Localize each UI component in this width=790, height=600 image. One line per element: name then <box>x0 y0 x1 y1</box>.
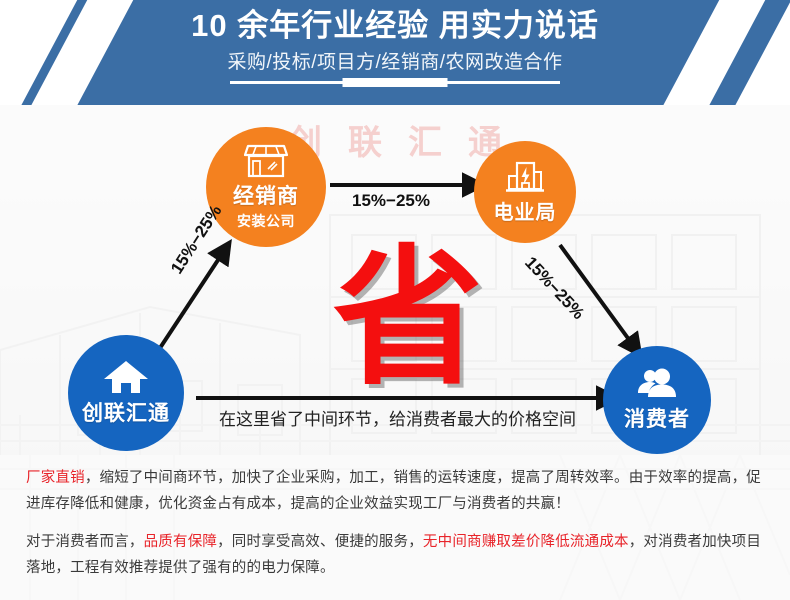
supply-chain-diagram: 创联汇通 省 <box>0 105 790 455</box>
highlight-text: 品质有保障 <box>144 534 218 550</box>
diagram-node-power-bureau[interactable]: 电业局 <box>474 141 576 243</box>
node-label: 经销商 <box>233 180 299 210</box>
highlight-text: 厂家直销 <box>26 470 85 486</box>
users-icon <box>635 367 679 401</box>
connector-label-company-to-consumer: 在这里省了中间环节，给消费者最大的价格空间 <box>200 405 595 430</box>
diagram-node-consumer[interactable]: 消费者 <box>603 346 711 454</box>
connector-label-dealer-to-bureau: 15%−25% <box>352 191 430 211</box>
node-sublabel: 安装公司 <box>237 211 295 231</box>
highlight-text: 无中间商赚取差价降低流通成本 <box>423 534 629 550</box>
paragraph-text: ，同时享受高效、便捷的服务， <box>217 534 423 550</box>
node-label: 创联汇通 <box>82 397 170 427</box>
storefront-icon <box>244 144 288 178</box>
page-title: 10 余年行业经验 用实力说话 <box>191 8 599 44</box>
description-paragraph-1: 厂家直销，缩短了中间商环节，加快了企业采购，加工，销售的运转速度，提高了周转效率… <box>26 465 764 517</box>
diagram-node-company[interactable]: 创联汇通 <box>68 335 184 451</box>
page-header: 10 余年行业经验 用实力说话 采购/投标/项目方/经销商/农网改造合作 <box>0 0 790 105</box>
power-building-icon <box>504 160 546 194</box>
node-label: 消费者 <box>624 403 690 433</box>
diagram-node-dealer[interactable]: 经销商 安装公司 <box>206 127 326 247</box>
save-emphasis-glyph: 省 <box>333 243 483 393</box>
page-subtitle: 采购/投标/项目方/经销商/农网改造合作 <box>227 47 562 74</box>
header-divider <box>230 81 560 84</box>
description-paragraph-2: 对于消费者而言，品质有保障，同时享受高效、便捷的服务，无中间商赚取差价降低流通成… <box>26 529 764 581</box>
node-label: 电业局 <box>494 196 557 225</box>
home-icon <box>103 359 149 395</box>
header-divider-center <box>343 78 448 87</box>
description-section: 厂家直销，缩短了中间商环节，加快了企业采购，加工，销售的运转速度，提高了周转效率… <box>0 455 790 600</box>
header-content: 10 余年行业经验 用实力说话 采购/投标/项目方/经销商/农网改造合作 <box>0 0 790 105</box>
paragraph-text: 对于消费者而言， <box>26 534 144 550</box>
arrow-company-to-dealer <box>158 257 220 351</box>
paragraph-text: ，缩短了中间商环节，加快了企业采购，加工，销售的运转速度，提高了周转效率。由于效… <box>26 470 761 512</box>
